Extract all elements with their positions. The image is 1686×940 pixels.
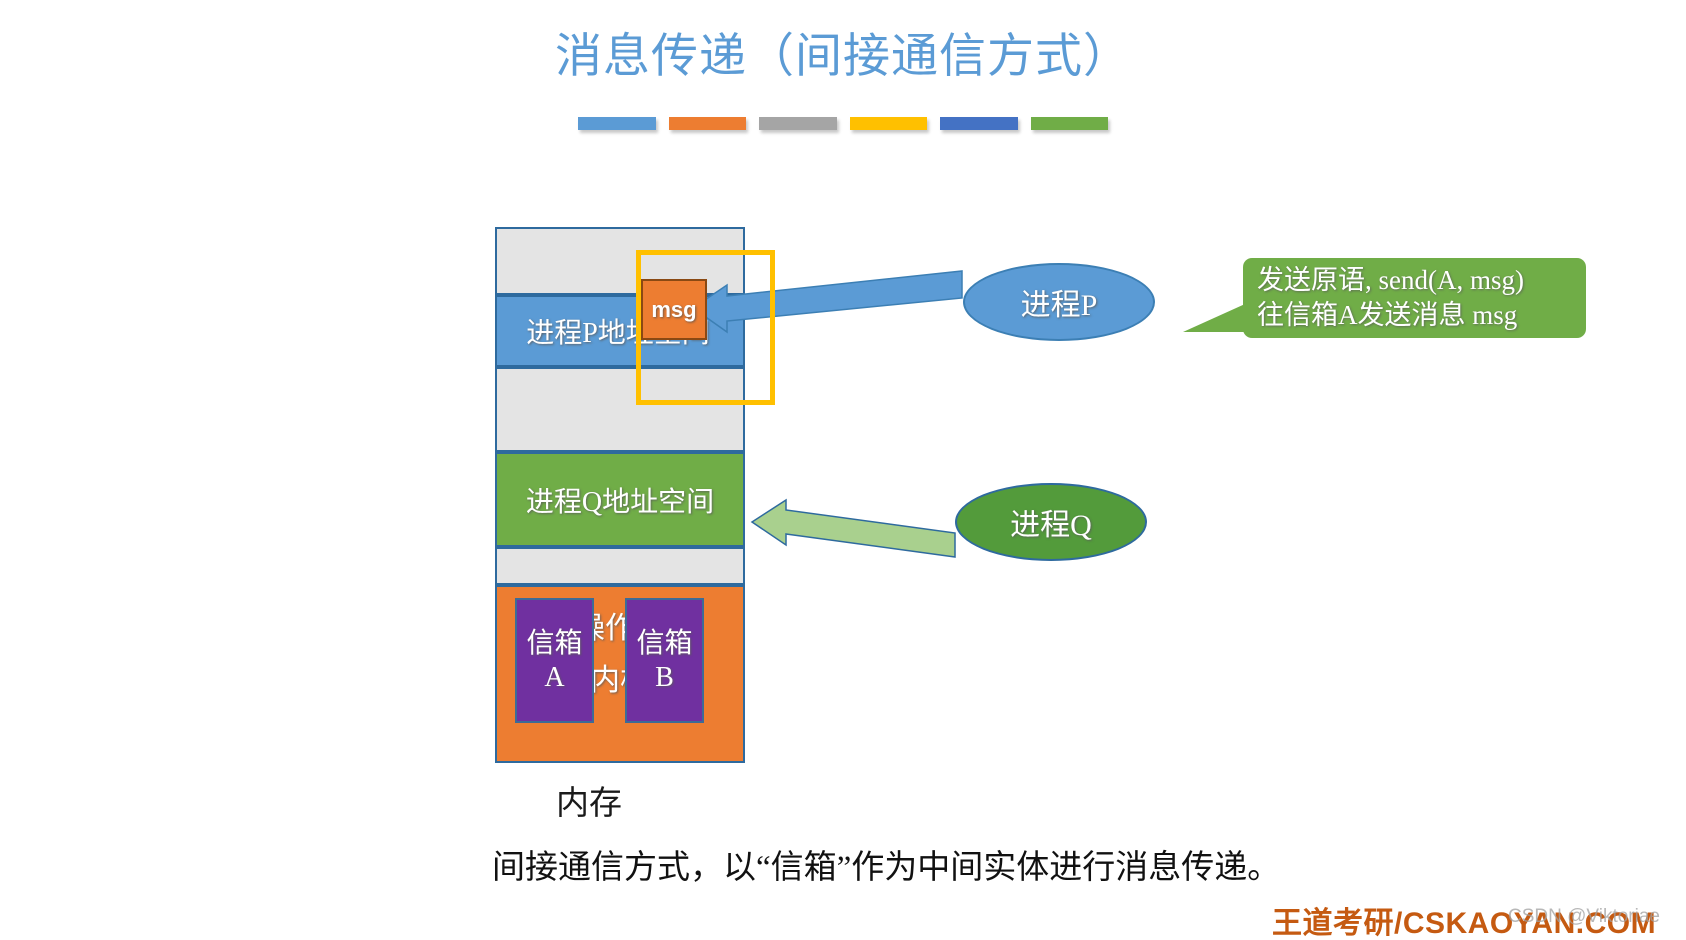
callout-line-2: 往信箱A发送消息 msg	[1257, 298, 1517, 333]
watermark-author: CSDN @Viktoriae	[1508, 906, 1660, 928]
arrow-layer	[0, 0, 1686, 940]
memory-band-process-q-label: 进程Q地址空间	[526, 480, 714, 520]
decor-bar-yellow	[850, 117, 928, 130]
mailbox-b-label-line2: B	[655, 661, 674, 695]
memory-band-process-q: 进程Q地址空间	[497, 452, 743, 547]
memory-caption: 内存	[556, 776, 622, 824]
msg-highlight-rect	[636, 250, 775, 405]
page-title: 消息传递（间接通信方式）	[0, 28, 1686, 86]
arrow-q-to-q-space	[752, 500, 955, 557]
process-p-ellipse: 进程P	[963, 263, 1155, 341]
mailbox-a-label-line1: 信箱	[526, 627, 582, 661]
send-primitive-callout: 发送原语, send(A, msg) 往信箱A发送消息 msg	[1243, 258, 1586, 338]
mailbox-a-label-line2: A	[544, 661, 564, 695]
mailbox-b-box: 信箱 B	[625, 598, 704, 723]
mailbox-a-box: 信箱 A	[515, 598, 594, 723]
decor-bar-dark-blue	[940, 117, 1018, 130]
decorative-bar-row	[578, 117, 1108, 130]
mailbox-b-label-line1: 信箱	[636, 627, 692, 661]
process-q-ellipse: 进程Q	[955, 483, 1147, 561]
process-p-label: 进程P	[1021, 280, 1098, 324]
decor-bar-blue	[578, 117, 656, 130]
decor-bar-gray	[759, 117, 837, 130]
process-q-label: 进程Q	[1010, 500, 1092, 544]
callout-tail	[1183, 304, 1245, 332]
memory-band-free-lower	[497, 547, 743, 585]
callout-line-1: 发送原语, send(A, msg)	[1257, 263, 1524, 298]
bottom-caption: 间接通信方式，以“信箱”作为中间实体进行消息传递。	[492, 840, 1280, 888]
decor-bar-green	[1031, 117, 1109, 130]
slide-canvas: 消息传递（间接通信方式） 进程P地址空间 进程Q地址空间 操作系 统内核区 信箱…	[0, 0, 1686, 940]
decor-bar-orange	[669, 117, 747, 130]
